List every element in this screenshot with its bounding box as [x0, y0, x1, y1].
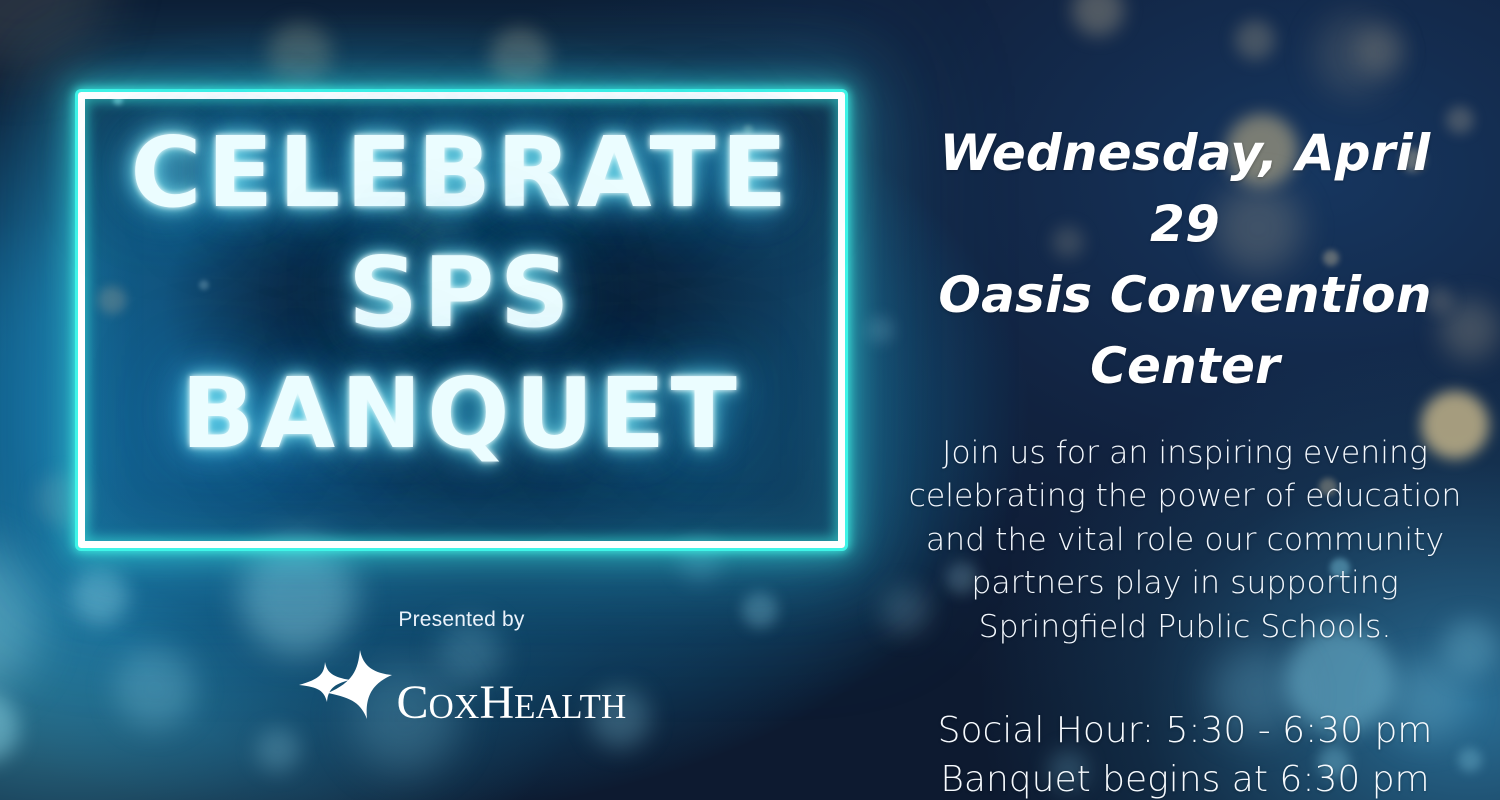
- bokeh-circle: [1072, 0, 1124, 36]
- banquet-start-time: Banquet begins at 6:30 pm: [905, 756, 1465, 800]
- coxhealth-wordmark: COXHEALTH: [397, 680, 627, 726]
- event-venue: Oasis Convention Center: [905, 260, 1465, 402]
- bokeh-circle: [1356, 26, 1404, 74]
- bokeh-circle: [490, 28, 550, 88]
- event-description: Join us for an inspiring eveningcelebrat…: [905, 432, 1465, 649]
- coxhealth-logo: COXHEALTH: [78, 646, 845, 724]
- social-hour-time: Social Hour: 5:30 - 6:30 pm: [905, 707, 1465, 755]
- event-description-line: celebrating the power of education: [905, 475, 1465, 518]
- neon-frame: [78, 92, 845, 548]
- event-description-line: partners play in supporting: [905, 562, 1465, 605]
- wordmark-ox: OX: [429, 687, 480, 726]
- bokeh-circle: [0, 542, 38, 698]
- event-description-line: Join us for an inspiring evening: [905, 432, 1465, 475]
- bokeh-circle: [0, 0, 110, 74]
- bokeh-circle: [256, 728, 300, 772]
- wordmark-h: H: [479, 676, 514, 729]
- coxhealth-sparkle-icon: [297, 646, 393, 724]
- presented-by-label: Presented by: [78, 608, 845, 632]
- event-description-line: Springfield Public Schools.: [905, 606, 1465, 649]
- event-schedule: Social Hour: 5:30 - 6:30 pm Banquet begi…: [905, 707, 1465, 800]
- wordmark-c: C: [397, 676, 429, 729]
- event-description-line: and the vital role our community: [905, 519, 1465, 562]
- event-date: Wednesday, April 29: [905, 118, 1465, 260]
- bokeh-circle: [866, 316, 894, 344]
- bokeh-circle: [1235, 20, 1275, 60]
- presenter-block: Presented by COXHEALTH: [78, 608, 845, 724]
- wordmark-ealth: EALTH: [514, 687, 626, 726]
- event-poster: CELEBRATE SPS BANQUET Presented by COXHE…: [0, 0, 1500, 800]
- bokeh-circle: [0, 694, 19, 762]
- bokeh-circle: [268, 23, 332, 87]
- bokeh-circle: [1315, 15, 1395, 95]
- event-details-column: Wednesday, April 29 Oasis Convention Cen…: [905, 118, 1465, 800]
